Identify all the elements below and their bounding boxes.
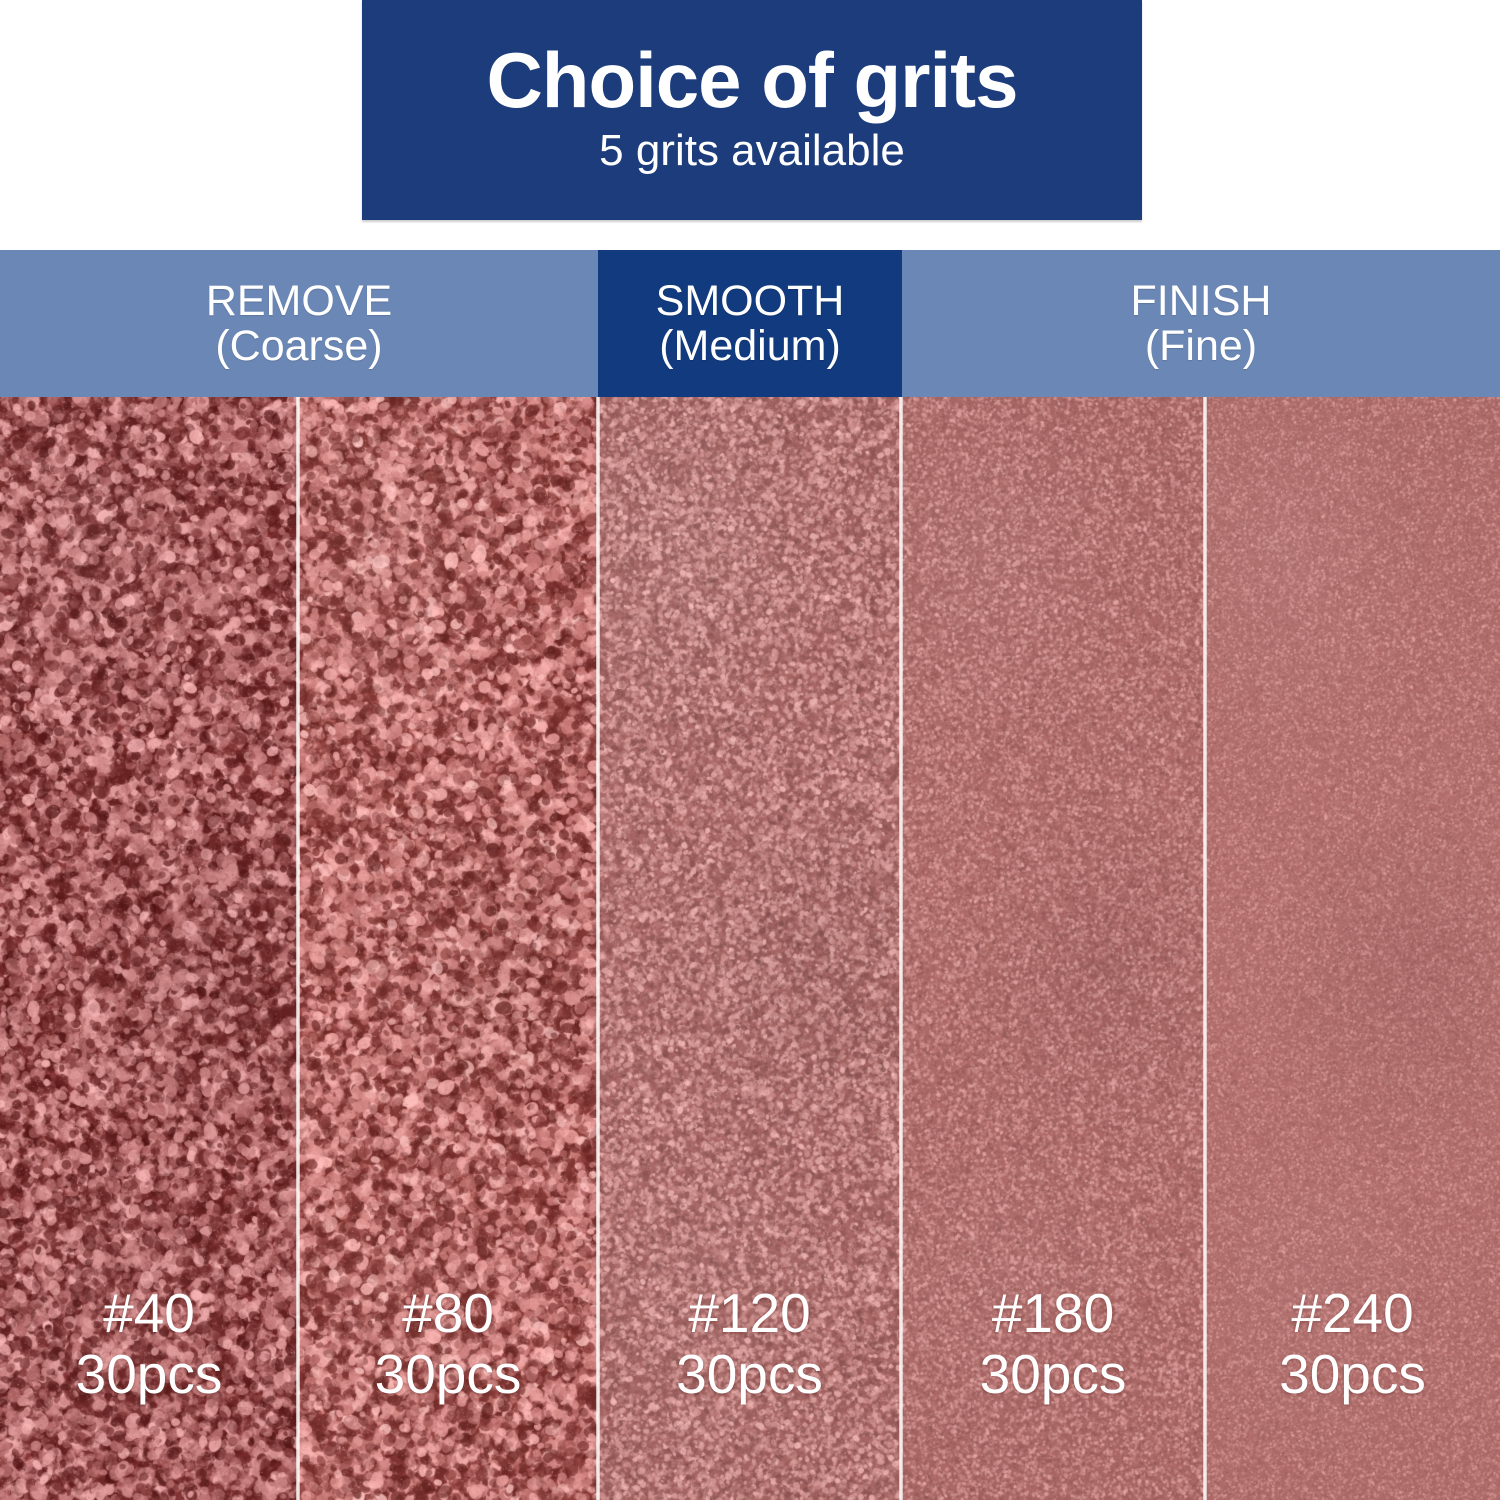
grit-quantity-40: 30pcs [76,1344,223,1405]
grit-number-180: #180 [992,1282,1114,1344]
category-finish-title: FINISH [1131,279,1272,323]
grit-strip-120: #120 30pcs [598,397,901,1500]
grit-label-40: #40 30pcs [76,1283,223,1404]
category-smooth: SMOOTH (Medium) [598,250,902,397]
grit-quantity-240: 30pcs [1279,1344,1426,1405]
strip-divider-1 [296,397,300,1500]
strip-divider-4 [1203,397,1207,1500]
grit-number-240: #240 [1291,1282,1413,1344]
title-banner: Choice of grits 5 grits available [362,0,1142,220]
grit-number-40: #40 [103,1282,195,1344]
grit-label-80: #80 30pcs [375,1283,522,1404]
category-smooth-title: SMOOTH [656,279,845,323]
grit-quantity-120: 30pcs [676,1344,823,1405]
page-subtitle: 5 grits available [599,129,905,173]
grit-strip-80: #80 30pcs [298,397,598,1500]
grit-label-120: #120 30pcs [676,1283,823,1404]
grit-strip-180: #180 30pcs [901,397,1205,1500]
grit-strip-240: #240 30pcs [1205,397,1500,1500]
category-remove-qualifier: (Coarse) [215,324,382,368]
category-smooth-qualifier: (Medium) [659,324,841,368]
strip-divider-3 [899,397,903,1500]
category-finish-qualifier: (Fine) [1145,324,1257,368]
category-remove: REMOVE (Coarse) [0,250,598,397]
grit-number-80: #80 [402,1282,494,1344]
category-remove-title: REMOVE [206,279,392,323]
category-header-band: REMOVE (Coarse) SMOOTH (Medium) FINISH (… [0,250,1500,397]
grit-label-180: #180 30pcs [980,1283,1127,1404]
sandpaper-strip-row: #40 30pcs #80 30pcs #120 30pcs #180 30pc… [0,397,1500,1500]
grit-number-120: #120 [688,1282,810,1344]
grit-quantity-180: 30pcs [980,1344,1127,1405]
page-title: Choice of grits [486,41,1017,119]
grit-quantity-80: 30pcs [375,1344,522,1405]
grit-strip-40: #40 30pcs [0,397,298,1500]
grit-label-240: #240 30pcs [1279,1283,1426,1404]
strip-divider-2 [596,397,600,1500]
category-finish: FINISH (Fine) [902,250,1500,397]
